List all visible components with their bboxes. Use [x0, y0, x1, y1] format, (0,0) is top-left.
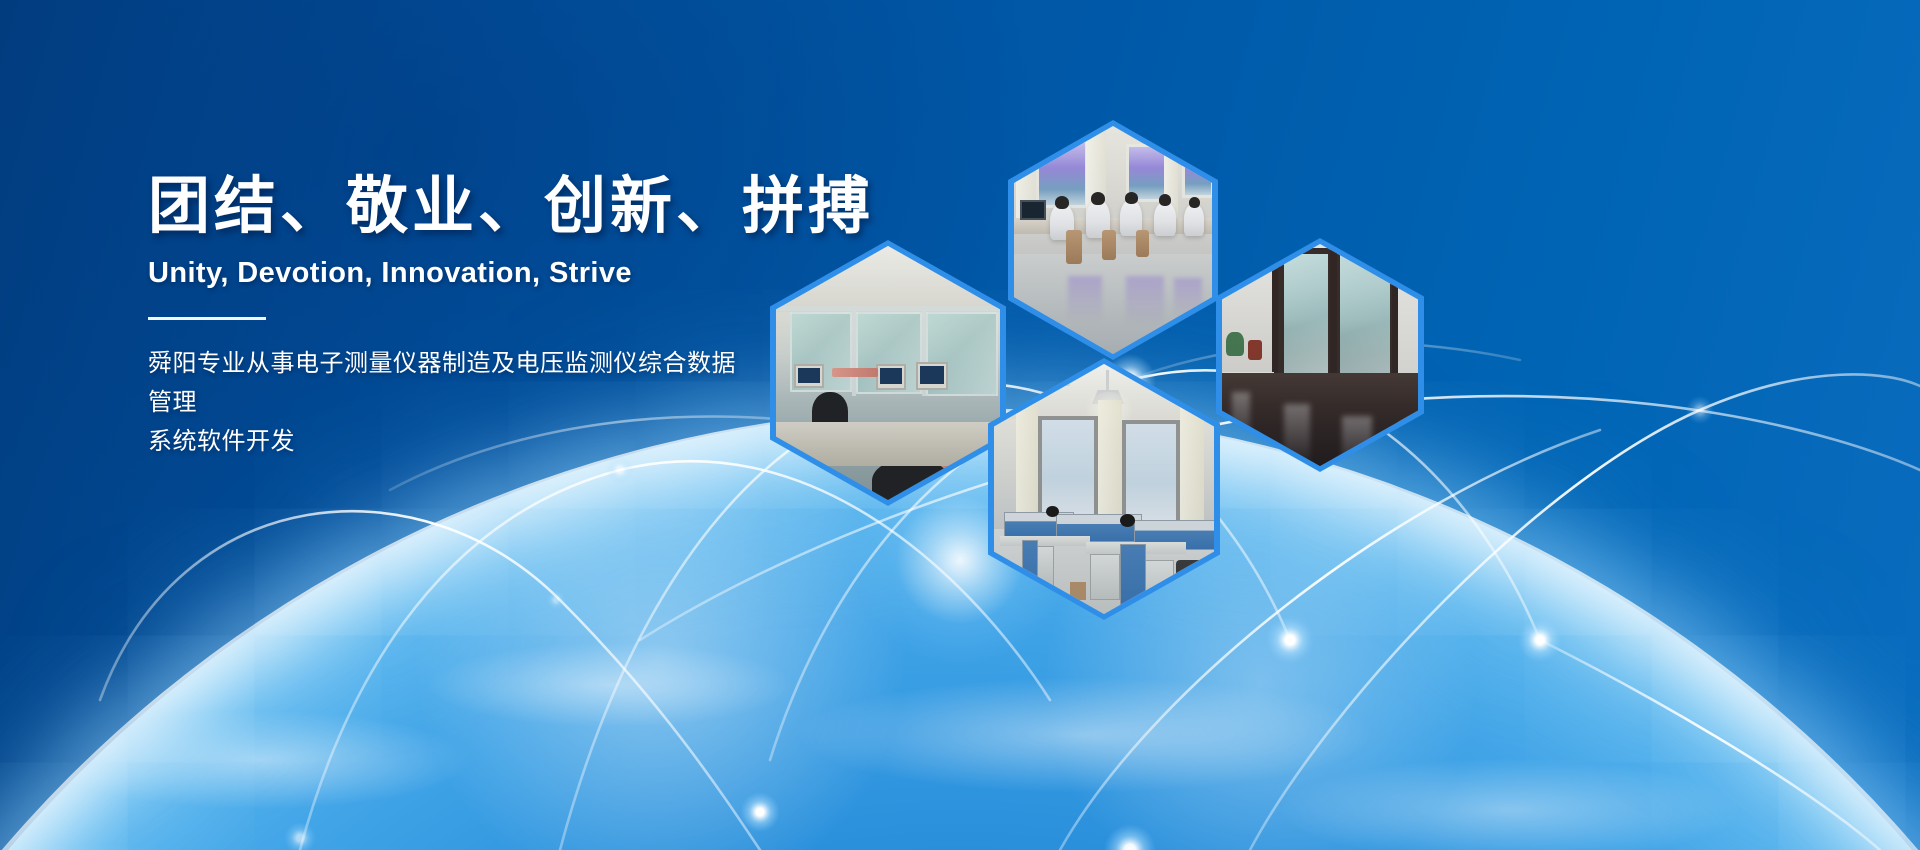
glass-office-image [776, 246, 1000, 500]
lab-workbench-photo[interactable] [1008, 120, 1218, 360]
hero-description: 舜阳专业从事电子测量仪器制造及电压监测仪综合数据管理 系统软件开发 [148, 345, 748, 462]
corridor-image [1222, 244, 1418, 466]
corridor-photo[interactable] [1216, 238, 1424, 472]
glass-office-photo[interactable] [770, 240, 1006, 506]
corridor-photo-inner [1222, 244, 1418, 466]
lab-workbench-image [1014, 126, 1212, 354]
cubicle-office-image [994, 364, 1214, 614]
hero-banner: 团结、敬业、创新、拼搏 Unity, Devotion, Innovation,… [0, 0, 1920, 850]
lab-workbench-photo-inner [1014, 126, 1212, 354]
glass-office-photo-inner [776, 246, 1000, 500]
hexagon-photo-cluster [760, 110, 1460, 590]
hero-description-line-2: 系统软件开发 [148, 428, 295, 455]
hero-description-line-1: 舜阳专业从事电子测量仪器制造及电压监测仪综合数据管理 [148, 350, 736, 416]
title-divider [148, 317, 266, 320]
cubicle-office-photo-inner [994, 364, 1214, 614]
cubicle-office-photo[interactable] [988, 358, 1220, 620]
